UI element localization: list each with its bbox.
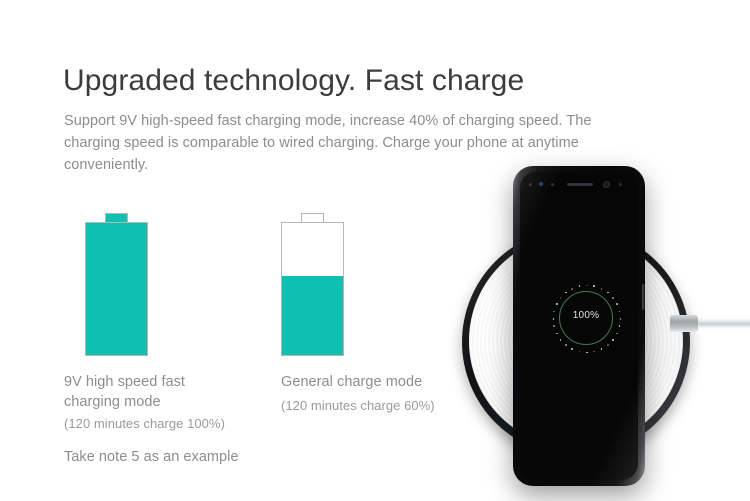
battery-graphic-fast-charge (85, 213, 148, 356)
battery-body (85, 222, 148, 356)
caption-subtitle-fast-charge: (120 minutes charge 100%) (64, 415, 284, 433)
cable-connector (670, 315, 698, 332)
footnote-text: Take note 5 as an example (64, 447, 324, 467)
caption-title-fast-charge: 9V high speed fast charging mode (64, 372, 214, 412)
battery-fill-level (86, 223, 147, 355)
battery-graphic-general-charge (281, 213, 344, 356)
product-photo: 100% (452, 150, 750, 501)
battery-body (281, 222, 344, 356)
smartphone: 100% (513, 166, 645, 486)
promo-page: Upgraded technology. Fast charge Support… (0, 0, 750, 501)
caption-title-general-charge: General charge mode (281, 372, 481, 392)
page-title: Upgraded technology. Fast charge (63, 64, 524, 99)
battery-fill-level (282, 276, 343, 355)
phone-glass-reflection (513, 166, 645, 486)
